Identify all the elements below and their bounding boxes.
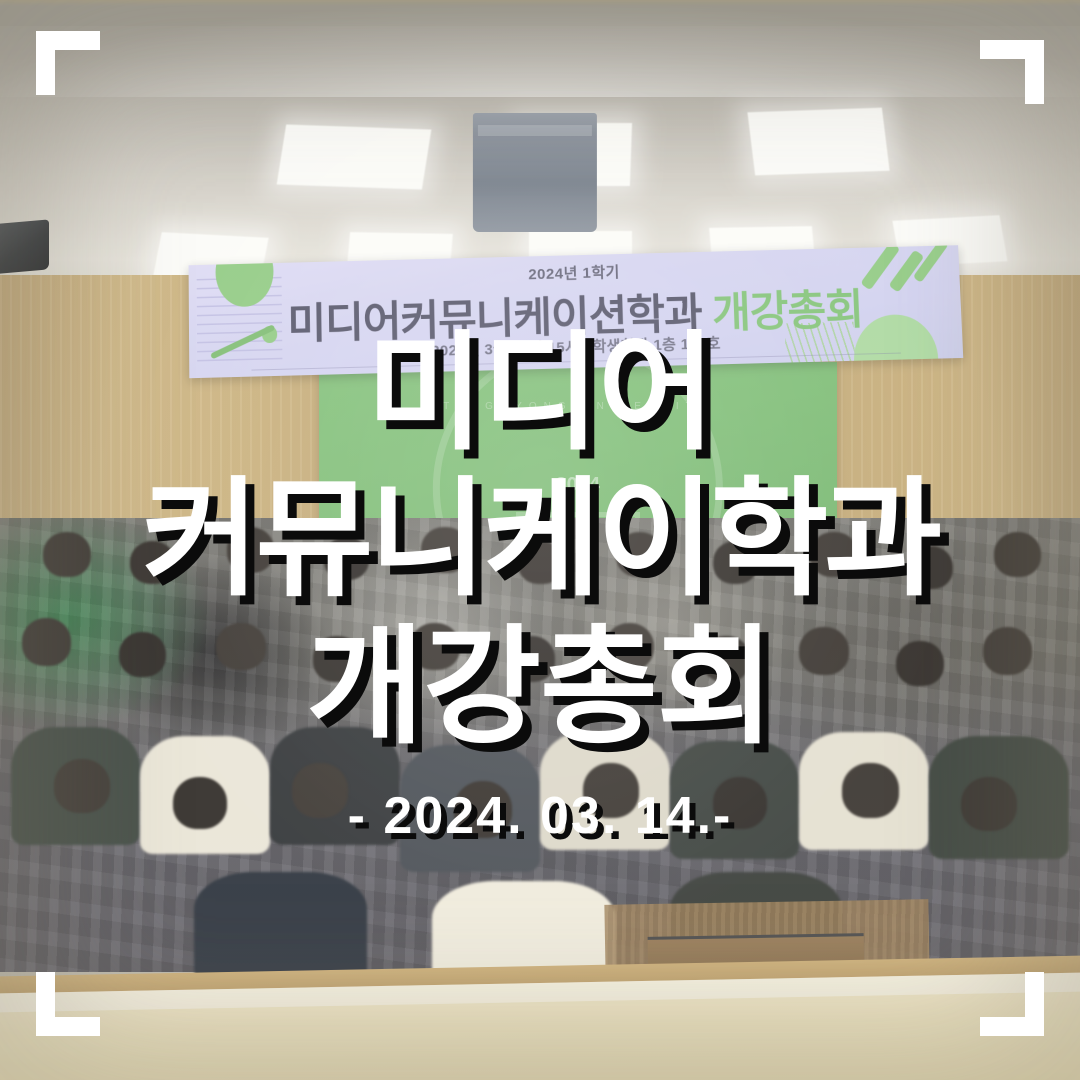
person-head <box>43 532 91 577</box>
person-head <box>842 763 898 817</box>
screen-year: 2024 <box>319 474 837 497</box>
person-head <box>22 618 72 666</box>
person-head <box>292 763 348 817</box>
ceiling-light-panel <box>747 108 889 175</box>
ceiling-light-wash <box>0 0 1080 97</box>
person-head <box>119 632 167 677</box>
person-head <box>896 641 944 686</box>
corner-mark-bottom-right <box>980 972 1044 1036</box>
person-head <box>983 627 1033 675</box>
corner-mark-top-left <box>36 31 100 95</box>
wall-speaker <box>0 220 50 275</box>
person-head <box>961 777 1017 831</box>
person-head <box>583 763 639 817</box>
person-head <box>518 541 563 584</box>
person-head <box>616 532 664 577</box>
person-head <box>54 759 110 813</box>
person-head <box>713 541 758 584</box>
person-head <box>810 532 858 577</box>
person-head <box>907 546 952 589</box>
person-head <box>713 777 767 829</box>
person-head <box>313 636 361 681</box>
lecture-hall-photo: TONGMYONG UNIVERSITY 2024 MEDIA COMMUNIC… <box>0 0 1080 1080</box>
person-head <box>173 777 227 829</box>
event-photo-card: TONGMYONG UNIVERSITY 2024 MEDIA COMMUNIC… <box>0 0 1080 1080</box>
person-head <box>421 527 469 572</box>
ceiling-projector <box>473 113 597 232</box>
screen-micro-text-top: TONGMYONG UNIVERSITY <box>319 401 837 412</box>
person-head <box>702 636 750 681</box>
corner-mark-top-right <box>980 40 1044 104</box>
person-head <box>454 781 512 838</box>
person-head <box>508 636 556 681</box>
person-torso-front <box>194 872 367 981</box>
person-head <box>324 537 369 580</box>
person-head <box>799 627 849 675</box>
ceiling-light-panel <box>276 125 431 191</box>
person-head <box>130 541 175 584</box>
person-head <box>227 527 275 572</box>
person-head <box>410 623 460 671</box>
person-head <box>605 623 655 671</box>
event-banner: 2024년 1학기 미디어커뮤니케이션학과 개강총회 2024년 3월 14일 … <box>189 245 964 378</box>
person-head <box>994 532 1042 577</box>
person-head <box>216 623 266 671</box>
corner-mark-bottom-left <box>36 972 100 1036</box>
